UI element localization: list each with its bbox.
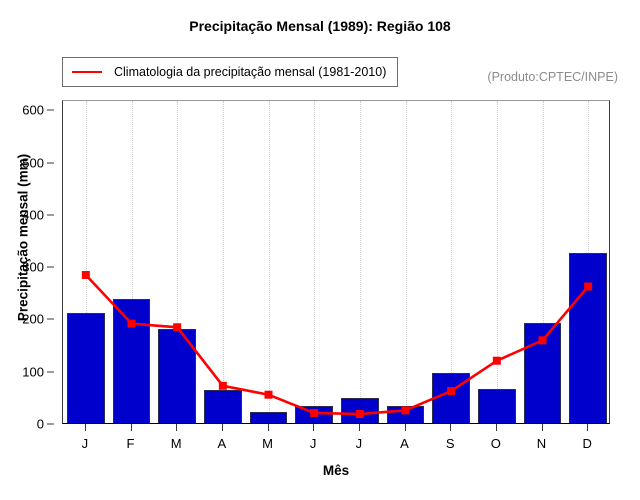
y-tick-label: 400 [22,207,44,222]
climatology-marker [219,382,227,390]
climatology-marker [539,336,547,344]
climatology-marker [356,410,364,418]
x-tick-label: S [446,436,455,451]
y-axis-ticks: 0100200300400500600 [0,100,54,424]
y-tick-label: 600 [22,103,44,118]
x-tick-label: A [217,436,226,451]
chart-legend: Climatologia da precipitação mensal (198… [62,57,398,87]
x-tick-label: J [356,436,363,451]
climatology-marker [173,323,181,331]
x-tick-label: F [127,436,135,451]
x-axis-ticks: JFMAMJJASOND [62,424,610,464]
product-credit: (Produto:CPTEC/INPE) [487,70,618,84]
climatology-line-series [63,101,609,423]
climatology-marker [265,391,273,399]
x-tick-label: J [82,436,89,451]
x-tick-label: O [491,436,501,451]
y-tick-label: 300 [22,260,44,275]
plot-area [62,100,610,424]
y-tick-mark [47,214,54,215]
x-tick-label: J [310,436,317,451]
y-tick-mark [47,319,54,320]
climatology-marker [493,357,501,365]
y-tick-mark [47,162,54,163]
legend-entry-label: Climatologia da precipitação mensal (198… [114,65,386,79]
y-tick-mark [47,371,54,372]
y-tick-label: 200 [22,312,44,327]
y-tick-mark [47,110,54,111]
x-tick-mark [496,424,497,431]
climatology-marker [584,283,592,291]
climatology-marker [310,409,318,417]
x-tick-mark [313,424,314,431]
x-axis-label: Mês [62,463,610,478]
x-tick-label: D [582,436,591,451]
x-tick-mark [450,424,451,431]
x-tick-mark [587,424,588,431]
climatology-marker [128,320,136,328]
x-tick-label: M [171,436,182,451]
x-tick-mark [222,424,223,431]
x-tick-mark [542,424,543,431]
x-tick-label: M [262,436,273,451]
chart-title: Precipitação Mensal (1989): Região 108 [0,18,640,34]
x-tick-label: A [400,436,409,451]
x-tick-mark [405,424,406,431]
y-tick-label: 0 [37,417,44,432]
climatology-marker [82,271,90,279]
climatology-marker [447,387,455,395]
legend-line-swatch-icon [72,71,102,73]
x-tick-mark [85,424,86,431]
x-tick-label: N [537,436,546,451]
x-tick-mark [359,424,360,431]
x-tick-mark [268,424,269,431]
y-tick-mark [47,267,54,268]
y-tick-mark [47,424,54,425]
y-tick-label: 500 [22,155,44,170]
y-tick-label: 100 [22,364,44,379]
climatology-marker [402,406,410,414]
x-tick-mark [131,424,132,431]
x-tick-mark [176,424,177,431]
climatology-line [86,275,588,414]
chart-figure: Precipitação Mensal (1989): Região 108 P… [0,0,640,500]
